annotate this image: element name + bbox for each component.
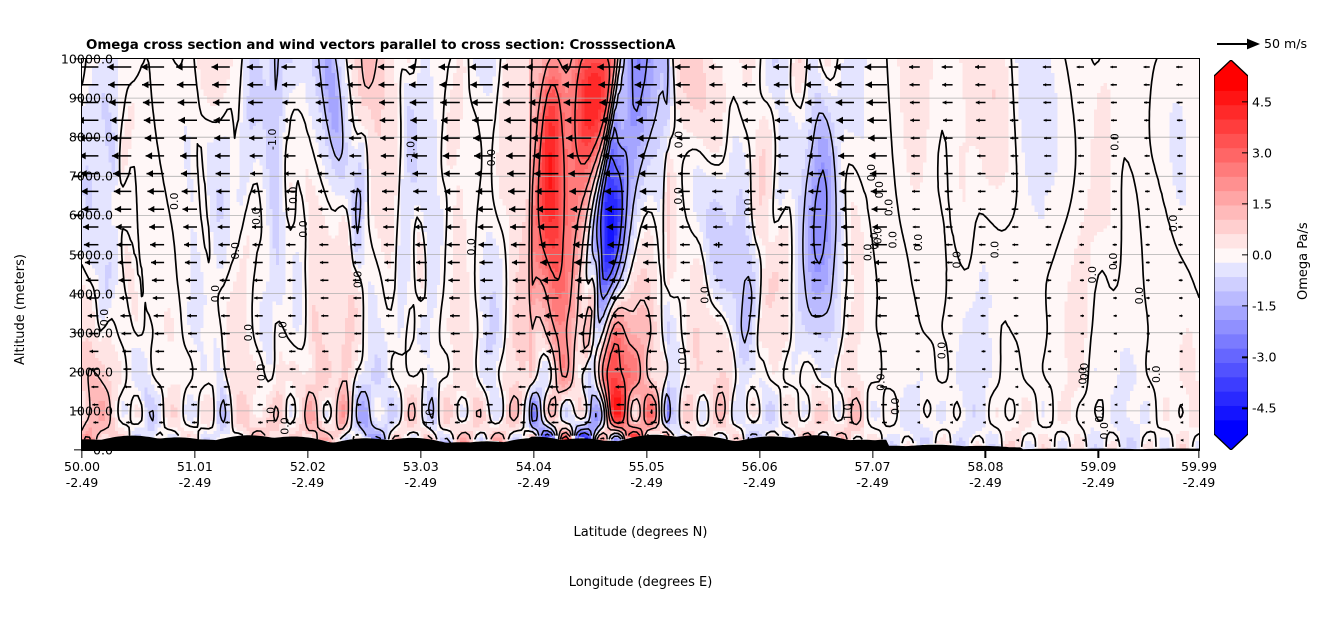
x-tick-mark: [872, 451, 873, 458]
x-tick-mark: [81, 451, 82, 458]
x-tick-mark: [759, 451, 760, 458]
x-tick-longitude: -2.49: [629, 475, 665, 491]
x-tick-label: 59.09-2.49: [1080, 459, 1116, 491]
x-tick-longitude: -2.49: [64, 475, 100, 491]
quiver-key-arrow-icon: [1216, 34, 1262, 54]
x-tick-latitude: 50.00: [64, 459, 100, 475]
y-tick-mark: [74, 449, 81, 450]
y-tick-label: 10000.0: [61, 52, 113, 67]
x-tick-latitude: 52.02: [290, 459, 326, 475]
colorbar-tick-mark: [1242, 408, 1248, 409]
colorbar-tick-mark: [1242, 203, 1248, 204]
omega-cross-section-canvas: 0.00.00.0-1.00.00.00.00.00.00.00.00.00.0…: [82, 59, 1199, 450]
figure: Omega cross section and wind vectors par…: [0, 0, 1320, 526]
x-tick-mark: [307, 451, 308, 458]
quiver-key: 50 m/s: [1216, 34, 1320, 56]
x-tick-latitude: 59.09: [1080, 459, 1116, 475]
x-tick-label: 57.07-2.49: [854, 459, 890, 491]
colorbar-tick-mark: [1242, 101, 1248, 102]
x-tick-longitude: -2.49: [742, 475, 778, 491]
x-tick-mark: [985, 451, 986, 458]
y-tick-mark: [74, 293, 81, 294]
colorbar-tick-mark: [1242, 254, 1248, 255]
x-tick-label: 53.03-2.49: [403, 459, 439, 491]
x-tick-latitude: 57.07: [854, 459, 890, 475]
y-tick-mark: [74, 371, 81, 372]
colorbar-tick-label: 1.5: [1252, 196, 1272, 211]
x-tick-longitude: -2.49: [290, 475, 326, 491]
x-tick-latitude: 55.05: [629, 459, 665, 475]
colorbar-tick-label: 3.0: [1252, 145, 1272, 160]
x-tick-latitude: 59.99: [1181, 459, 1217, 475]
x-tick-mark: [420, 451, 421, 458]
y-tick-mark: [74, 215, 81, 216]
plot-clip: 0.00.00.0-1.00.00.00.00.00.00.00.00.00.0…: [82, 59, 1199, 450]
y-tick-label: 0.0: [93, 443, 113, 458]
x-tick-label: 51.01-2.49: [177, 459, 213, 491]
y-tick-mark: [74, 97, 81, 98]
x-tick-mark: [533, 451, 534, 458]
x-axis-label: Latitude (degrees N) Longitude (degrees …: [81, 492, 1200, 624]
colorbar-tick-label: -1.5: [1252, 299, 1277, 314]
x-tick-longitude: -2.49: [1080, 475, 1116, 491]
x-tick-label: 56.06-2.49: [742, 459, 778, 491]
y-tick-mark: [74, 137, 81, 138]
x-tick-mark: [194, 451, 195, 458]
x-axis-label-lat: Latitude (degrees N): [81, 525, 1200, 542]
x-tick-label: 54.04-2.49: [516, 459, 552, 491]
colorbar-tick-label: 0.0: [1252, 248, 1272, 263]
x-tick-longitude: -2.49: [967, 475, 1003, 491]
cross-section-plot-area: 0.00.00.0-1.00.00.00.00.00.00.00.00.00.0…: [81, 58, 1200, 451]
x-tick-mark: [1198, 451, 1199, 458]
x-tick-label: 52.02-2.49: [290, 459, 326, 491]
x-tick-latitude: 53.03: [403, 459, 439, 475]
x-tick-mark: [646, 451, 647, 458]
x-tick-mark: [1098, 451, 1099, 458]
colorbar-tick-mark: [1242, 357, 1248, 358]
y-tick-mark: [74, 410, 81, 411]
x-tick-longitude: -2.49: [403, 475, 439, 491]
x-tick-longitude: -2.49: [516, 475, 552, 491]
y-tick-mark: [74, 332, 81, 333]
colorbar-label: Omega Pa/s: [1296, 222, 1311, 300]
x-tick-latitude: 51.01: [177, 459, 213, 475]
y-tick-mark: [74, 58, 81, 59]
x-tick-label: 59.99-2.49: [1181, 459, 1217, 491]
colorbar-tick-mark: [1242, 152, 1248, 153]
colorbar-tick-label: 4.5: [1252, 94, 1272, 109]
x-tick-latitude: 54.04: [516, 459, 552, 475]
x-tick-latitude: 58.08: [967, 459, 1003, 475]
x-tick-label: 55.05-2.49: [629, 459, 665, 491]
x-tick-label: 58.08-2.49: [967, 459, 1003, 491]
y-tick-mark: [74, 176, 81, 177]
quiver-key-label: 50 m/s: [1264, 36, 1307, 51]
x-axis-label-lon: Longitude (degrees E): [81, 575, 1200, 592]
x-tick-longitude: -2.49: [177, 475, 213, 491]
x-tick-label: 50.00-2.49: [64, 459, 100, 491]
colorbar-tick-label: -3.0: [1252, 350, 1277, 365]
colorbar-tick-label: -4.5: [1252, 401, 1277, 416]
colorbar-tick-mark: [1242, 305, 1248, 306]
x-tick-longitude: -2.49: [854, 475, 890, 491]
x-tick-latitude: 56.06: [742, 459, 778, 475]
y-axis-label: Altitude (meters): [13, 254, 28, 365]
title-line-1: Omega cross section and wind vectors par…: [86, 38, 1126, 54]
y-tick-mark: [74, 254, 81, 255]
x-tick-longitude: -2.49: [1181, 475, 1217, 491]
